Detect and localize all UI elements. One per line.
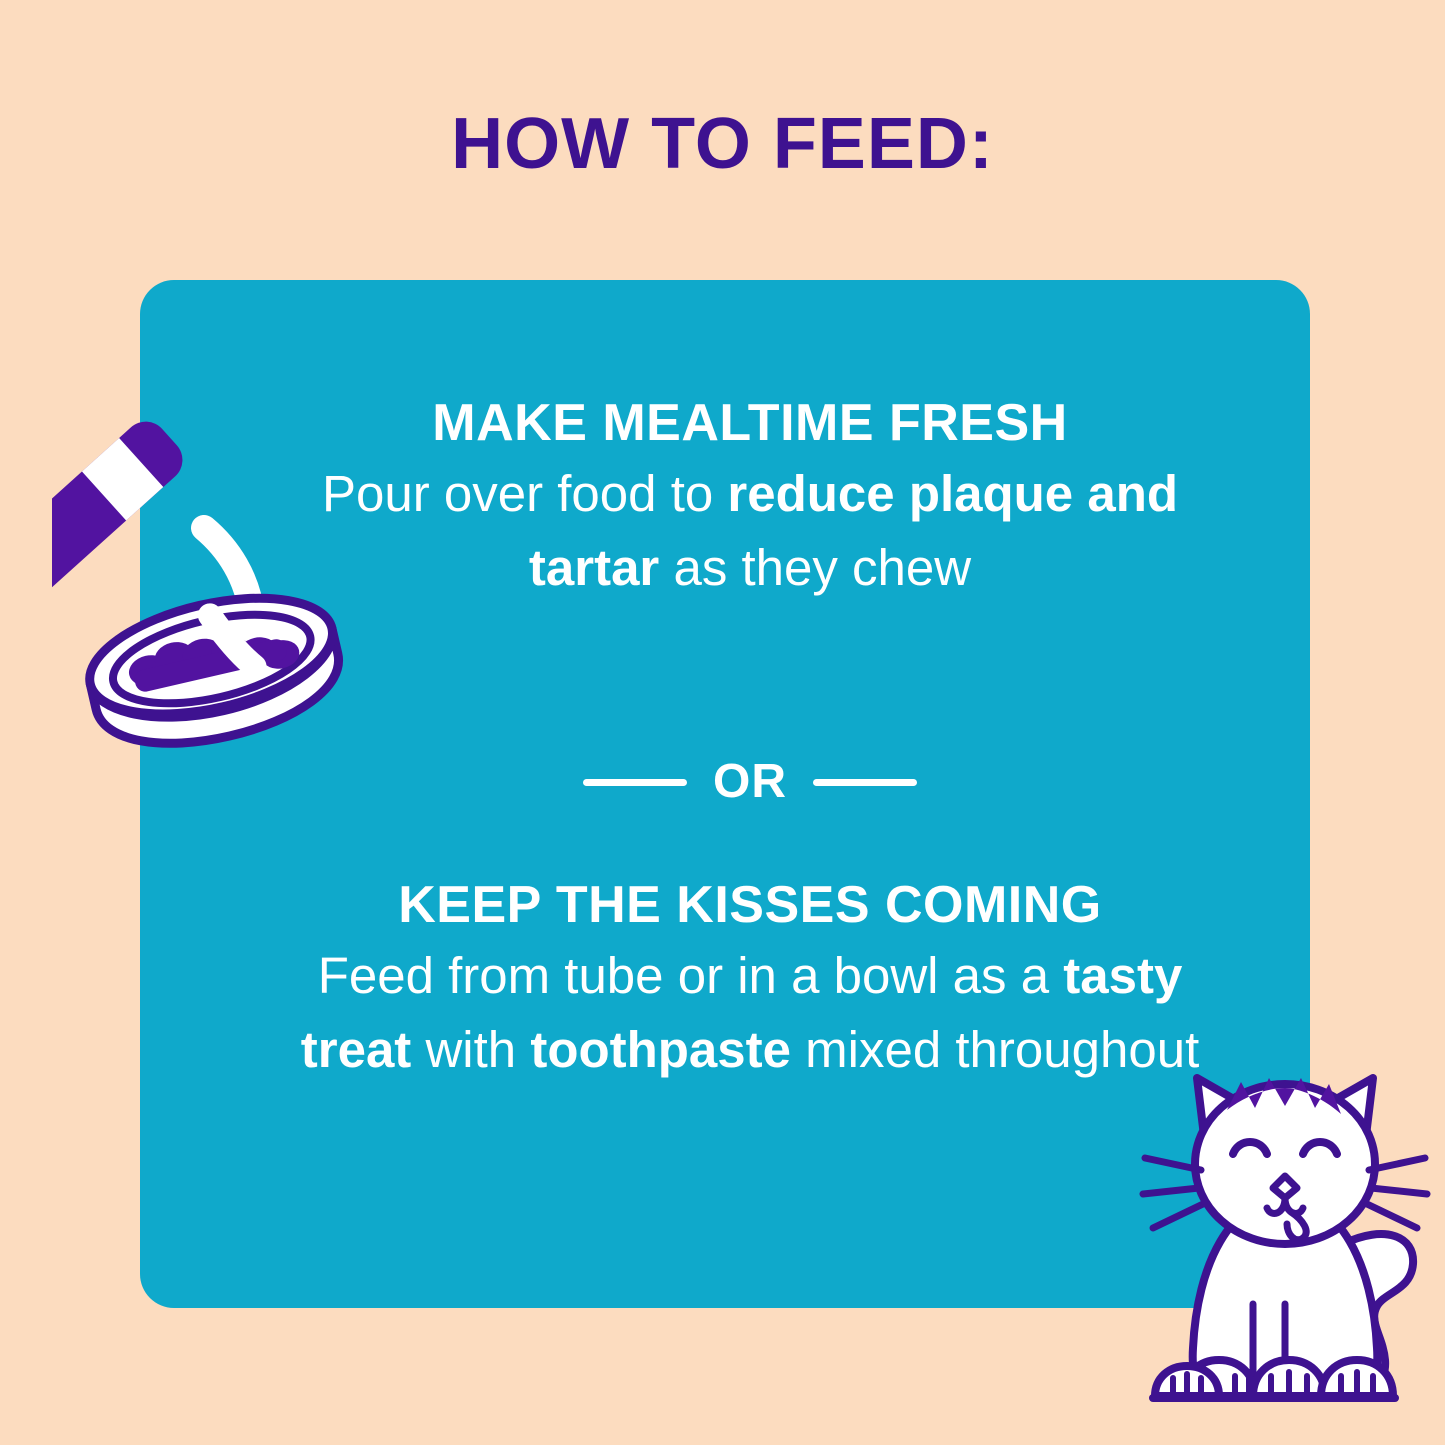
page-title: HOW TO FEED: [0, 108, 1445, 180]
block-two-body-part-4: toothpaste [530, 1021, 791, 1078]
happy-cat-licking-lips-icon [1135, 1048, 1435, 1438]
or-rule-left [583, 779, 687, 786]
block-two-body: Feed from tube or in a bowl as a tasty t… [284, 939, 1216, 1087]
or-rule-right [813, 779, 917, 786]
block-two-body-part-3: with [411, 1021, 530, 1078]
card-content: MAKE MEALTIME FRESH Pour over food to re… [300, 280, 1200, 1308]
block-one-heading: MAKE MEALTIME FRESH [300, 396, 1200, 451]
page-root: HOW TO FEED: [0, 0, 1445, 1445]
block-one-body: Pour over food to reduce plaque and tart… [300, 457, 1200, 605]
block-one-body-part-1: Pour over food to [322, 465, 727, 522]
or-divider: OR [300, 758, 1200, 806]
instruction-block-one: MAKE MEALTIME FRESH Pour over food to re… [300, 396, 1200, 605]
or-label: OR [713, 758, 787, 806]
block-one-body-part-3: as they chew [659, 539, 971, 596]
instruction-block-two: KEEP THE KISSES COMING Feed from tube or… [284, 878, 1216, 1087]
block-two-body-part-1: Feed from tube or in a bowl as a [318, 947, 1064, 1004]
block-two-heading: KEEP THE KISSES COMING [284, 878, 1216, 933]
